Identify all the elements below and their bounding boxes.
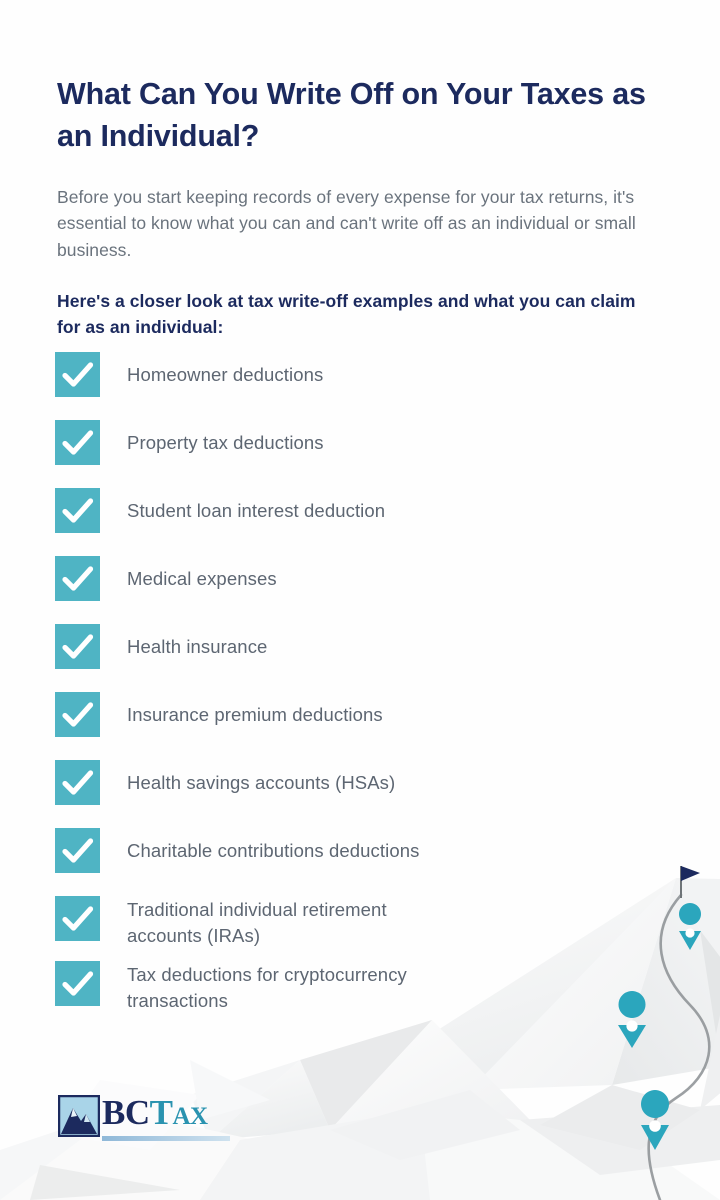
logo-ax: AX [172, 1103, 207, 1130]
check-icon[interactable] [55, 624, 100, 669]
check-icon[interactable] [55, 961, 100, 1006]
check-icon[interactable] [55, 896, 100, 941]
logo-bc: BC [102, 1093, 150, 1132]
bctax-logo[interactable]: BCTAX [58, 1095, 230, 1141]
list-item[interactable]: Insurance premium deductions [55, 692, 655, 737]
checklist: Homeowner deductions Property tax deduct… [55, 352, 655, 1026]
list-item-label: Tax deductions for cryptocurrency transa… [127, 961, 437, 1013]
logo-underline-bar [102, 1136, 230, 1141]
list-item-label: Student loan interest deduction [127, 488, 385, 524]
logo-wordmark: BCTAX [102, 1095, 230, 1141]
list-item[interactable]: Student loan interest deduction [55, 488, 655, 533]
summit-flag-icon [681, 866, 700, 898]
map-pin-icon-1 [679, 903, 701, 950]
list-item-label: Health insurance [127, 624, 267, 660]
list-item-label: Traditional individual retirement accoun… [127, 896, 427, 948]
infographic-page: What Can You Write Off on Your Taxes as … [0, 0, 720, 1200]
list-item[interactable]: Charitable contributions deductions [55, 828, 655, 873]
check-icon[interactable] [55, 556, 100, 601]
mountain-logo-icon [58, 1095, 100, 1137]
check-icon[interactable] [55, 420, 100, 465]
logo-t: T [150, 1093, 173, 1132]
list-item[interactable]: Health savings accounts (HSAs) [55, 760, 655, 805]
list-item-label: Charitable contributions deductions [127, 828, 419, 864]
list-item[interactable]: Property tax deductions [55, 420, 655, 465]
list-item[interactable]: Tax deductions for cryptocurrency transa… [55, 961, 655, 1013]
check-icon[interactable] [55, 828, 100, 873]
logo-text: BCTAX [102, 1095, 230, 1135]
list-item-label: Health savings accounts (HSAs) [127, 760, 395, 796]
page-title: What Can You Write Off on Your Taxes as … [57, 74, 677, 158]
list-item[interactable]: Traditional individual retirement accoun… [55, 896, 655, 948]
check-icon[interactable] [55, 352, 100, 397]
list-item-label: Medical expenses [127, 556, 277, 592]
map-pin-icon-3 [641, 1090, 669, 1150]
intro-paragraph: Before you start keeping records of ever… [57, 184, 637, 264]
check-icon[interactable] [55, 488, 100, 533]
lead-in-text: Here's a closer look at tax write-off ex… [57, 288, 637, 341]
check-icon[interactable] [55, 760, 100, 805]
check-icon[interactable] [55, 692, 100, 737]
list-item-label: Property tax deductions [127, 420, 324, 456]
list-item-label: Insurance premium deductions [127, 692, 383, 728]
list-item[interactable]: Medical expenses [55, 556, 655, 601]
list-item-label: Homeowner deductions [127, 352, 323, 388]
list-item[interactable]: Health insurance [55, 624, 655, 669]
list-item[interactable]: Homeowner deductions [55, 352, 655, 397]
